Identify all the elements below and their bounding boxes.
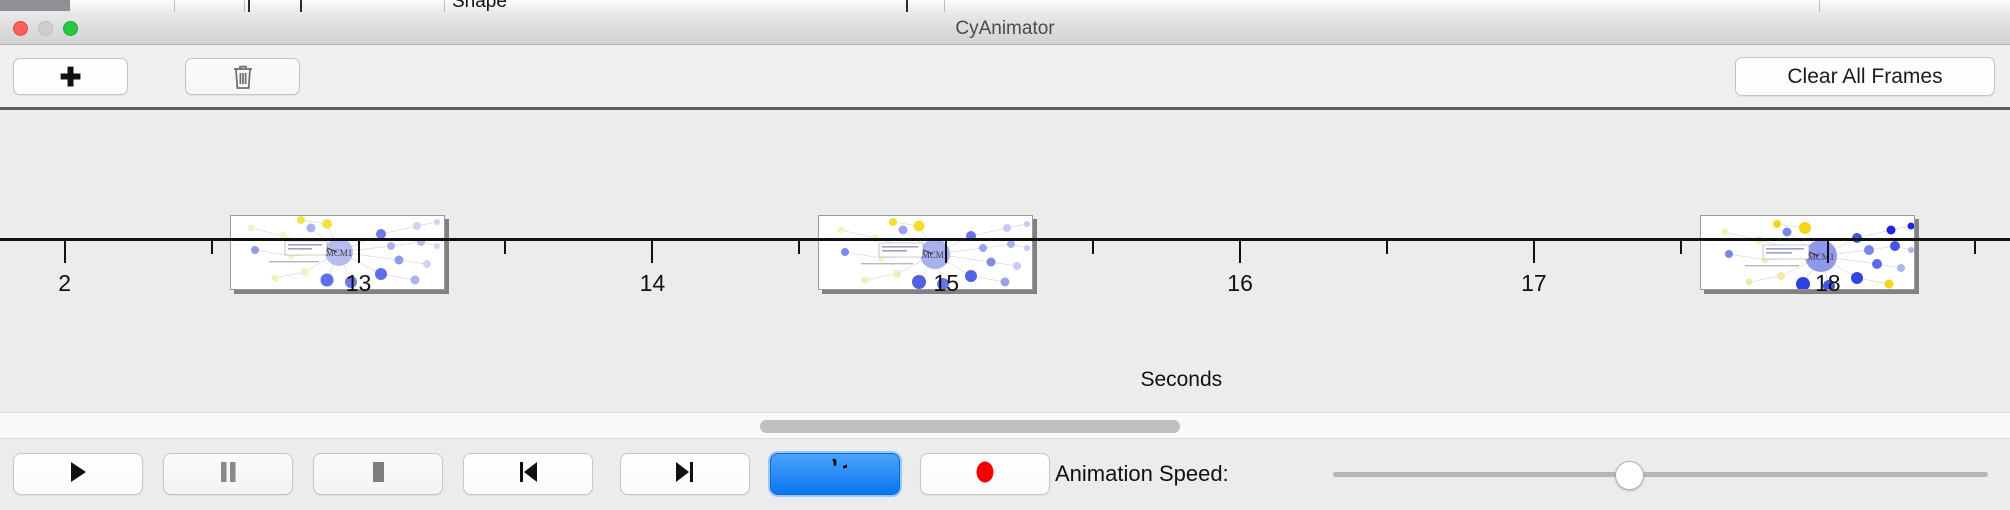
timeline-major-tick — [651, 241, 653, 263]
toolbar: ✚ Clear All Frames — [0, 45, 2010, 107]
play-icon — [68, 460, 88, 489]
background-window-tick — [300, 0, 302, 12]
background-window-segment — [445, 0, 945, 12]
background-window-dark-segment — [0, 0, 70, 11]
timeline-major-tick — [64, 241, 66, 263]
stop-icon — [368, 460, 388, 489]
background-window-tick — [248, 0, 250, 12]
animation-speed-label: Animation Speed: — [1055, 453, 1229, 495]
timeline-major-tick — [1533, 241, 1535, 263]
background-window-segment — [245, 0, 445, 12]
record-button[interactable] — [920, 453, 1050, 495]
trash-icon — [232, 64, 254, 90]
timeline-minor-tick — [504, 241, 506, 254]
background-window-segment — [945, 0, 1820, 12]
timeline-minor-tick — [1092, 241, 1094, 254]
background-window-strip: Shape — [0, 0, 2010, 12]
timeline-tick-label: 15 — [933, 270, 959, 297]
timeline-tick-label: 17 — [1521, 270, 1547, 297]
pause-button[interactable] — [163, 453, 293, 495]
timeline-major-tick — [945, 241, 947, 263]
timeline-scrollbar-thumb[interactable] — [760, 420, 1180, 433]
pause-icon — [218, 460, 238, 489]
loop-button[interactable] — [770, 453, 900, 495]
animation-speed-slider-thumb[interactable] — [1615, 461, 1644, 490]
playback-bar: Animation Speed: — [0, 439, 2010, 510]
timeline-minor-tick — [1386, 241, 1388, 254]
clear-all-frames-button[interactable]: Clear All Frames — [1735, 57, 1995, 96]
plus-icon: ✚ — [60, 64, 82, 90]
timeline-minor-tick — [798, 241, 800, 254]
timeline-tick-layer: 2131415161718 — [0, 238, 2010, 318]
skip-start-button[interactable] — [463, 453, 593, 495]
timeline-scrollbar[interactable] — [0, 412, 2010, 439]
animation-speed-slider[interactable] — [1333, 472, 1988, 477]
timeline-minor-tick — [211, 241, 213, 254]
record-icon — [973, 459, 997, 490]
timeline-tick-label: 18 — [1815, 270, 1841, 297]
background-window-segment — [1820, 0, 2010, 12]
delete-frame-button[interactable] — [185, 58, 300, 95]
skip-end-button[interactable] — [620, 453, 750, 495]
add-frame-button[interactable]: ✚ — [13, 58, 128, 95]
background-window-label: Shape — [452, 0, 507, 12]
skip-back-icon — [517, 460, 539, 489]
timeline-minor-tick — [1680, 241, 1682, 254]
timeline-axis-title: Seconds — [1140, 368, 1222, 392]
background-window-tick — [906, 0, 908, 12]
cyanimator-window: Shape CyAnimator ✚ Clear All Fra — [0, 0, 2010, 510]
background-window-segment — [175, 0, 245, 12]
timeline-tick-label: 2 — [58, 270, 71, 297]
title-bar: CyAnimator — [0, 12, 2010, 45]
timeline-tick-label: 16 — [1227, 270, 1253, 297]
timeline-tick-label: 13 — [346, 270, 372, 297]
timeline-major-tick — [358, 241, 360, 263]
timeline-major-tick — [1827, 241, 1829, 263]
loop-icon — [823, 459, 847, 490]
background-window-segment — [70, 0, 175, 12]
stop-button[interactable] — [313, 453, 443, 495]
timeline-major-tick — [1239, 241, 1241, 263]
timeline-minor-tick — [1974, 241, 1976, 254]
clear-all-frames-label: Clear All Frames — [1787, 65, 1942, 89]
timeline-panel[interactable]: MCM1 — [0, 110, 2010, 412]
play-button[interactable] — [13, 453, 143, 495]
window-title: CyAnimator — [0, 12, 2010, 45]
skip-forward-icon — [674, 460, 696, 489]
timeline-tick-label: 14 — [640, 270, 666, 297]
